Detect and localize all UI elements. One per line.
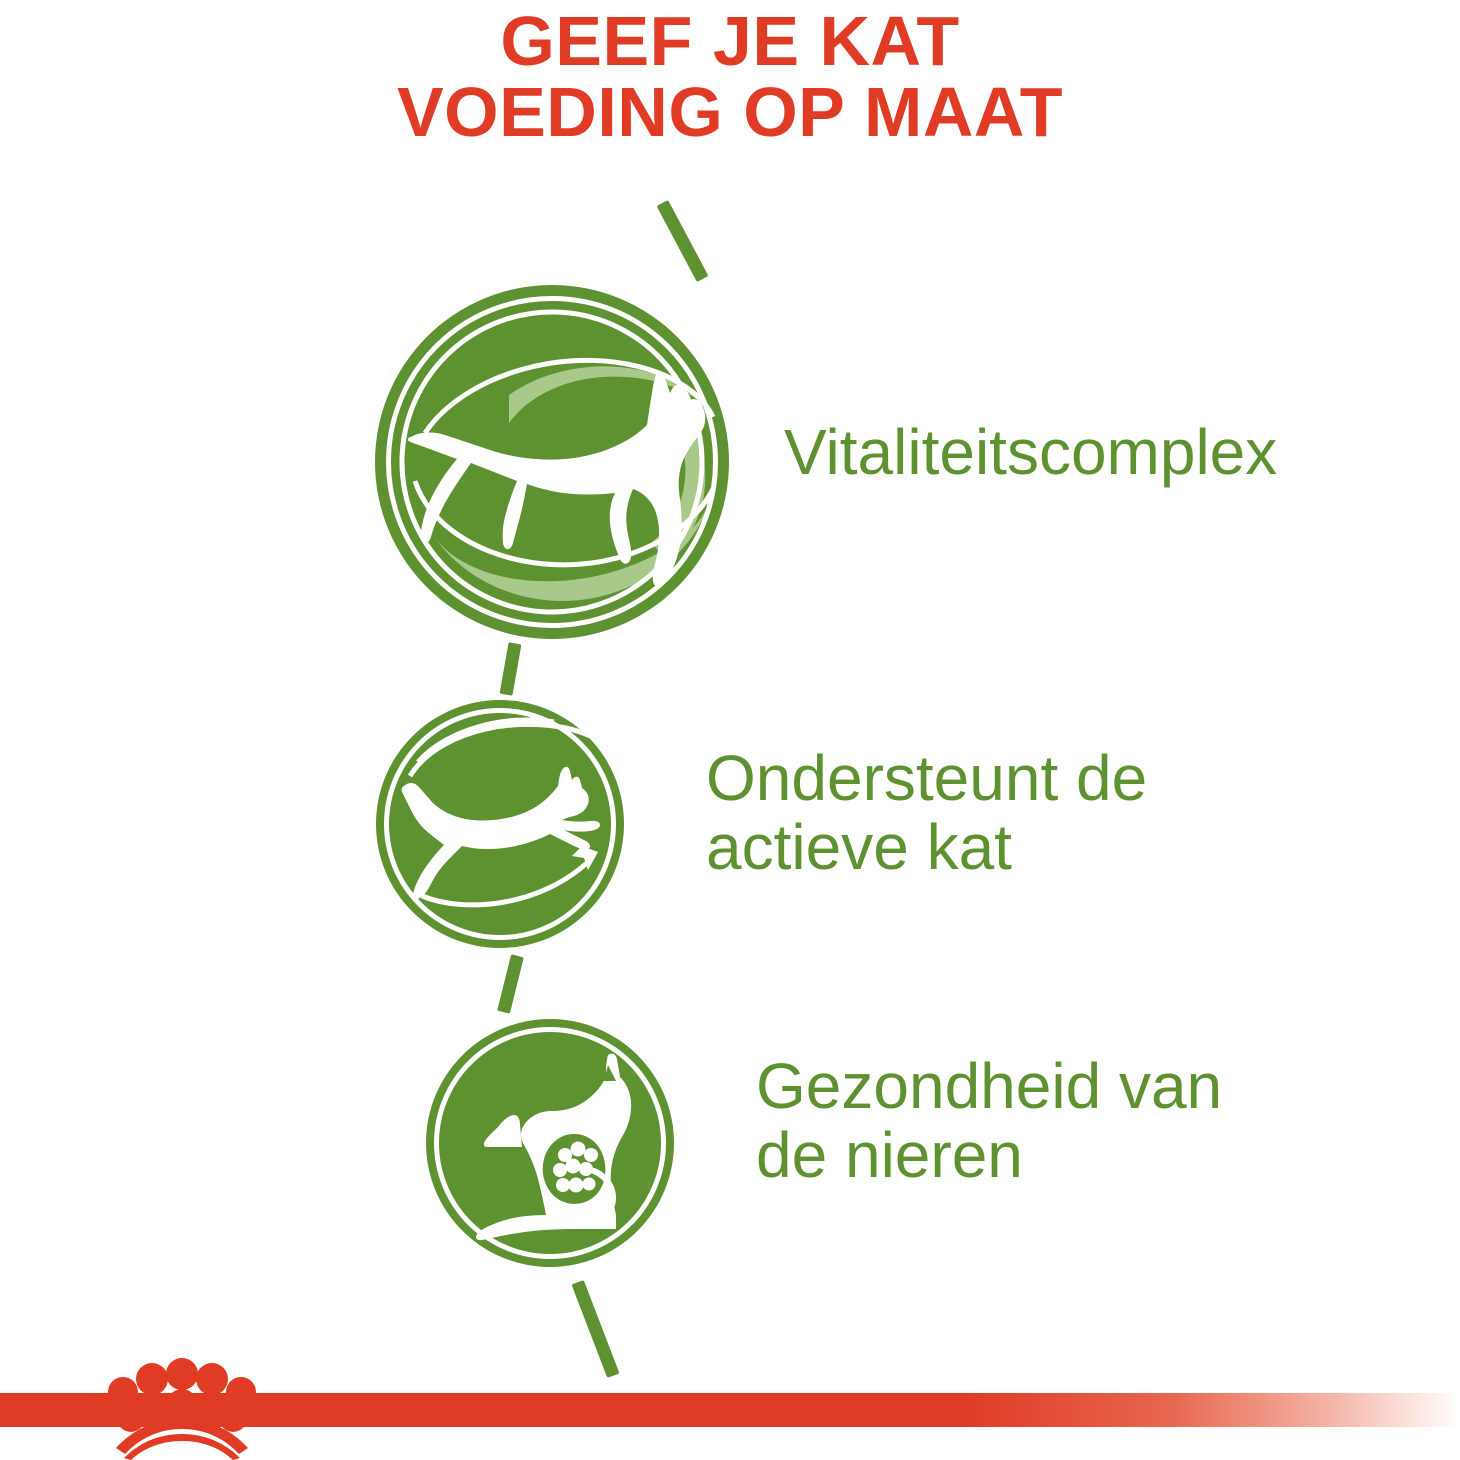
feature-label-vitality-line1: Vitaliteitscomplex [784,418,1277,487]
jumping-cat-arrow-circle-icon [376,700,624,948]
infographic-page: GEEF JE KAT VOEDING OP MAAT Vitaliteitsc… [0,0,1460,1460]
feature-icon-vitality [375,285,729,639]
feature-label-vitality: Vitaliteitscomplex [784,418,1277,487]
connector-dash-1-2 [500,642,522,695]
feature-label-active-cat-line1: Ondersteunt de [706,744,1147,813]
feature-label-active-cat: Ondersteunt de actieve kat [706,744,1147,882]
page-title-line2: VOEDING OP MAAT [0,77,1460,148]
feature-label-kidney-health-line1: Gezondheid van [756,1052,1222,1121]
feature-label-kidney-health: Gezondheid van de nieren [756,1052,1222,1190]
feature-icon-active-cat [376,700,624,948]
royal-canin-logo [96,1348,264,1460]
feature-icon-kidney-health [426,1019,674,1267]
page-title: GEEF JE KAT VOEDING OP MAAT [0,6,1460,149]
royal-canin-crown-icon [96,1348,264,1460]
feature-label-active-cat-line2: actieve kat [706,813,1147,882]
feature-label-kidney-health-line2: de nieren [756,1121,1222,1190]
sitting-cat-kidney-circle-icon [426,1019,674,1267]
page-title-line1: GEEF JE KAT [0,6,1460,77]
connector-dash-bottom [572,1280,620,1378]
connector-dash-2-3 [497,954,524,1013]
connector-dash-top [657,200,709,282]
walking-cat-circle-icon [375,285,729,639]
